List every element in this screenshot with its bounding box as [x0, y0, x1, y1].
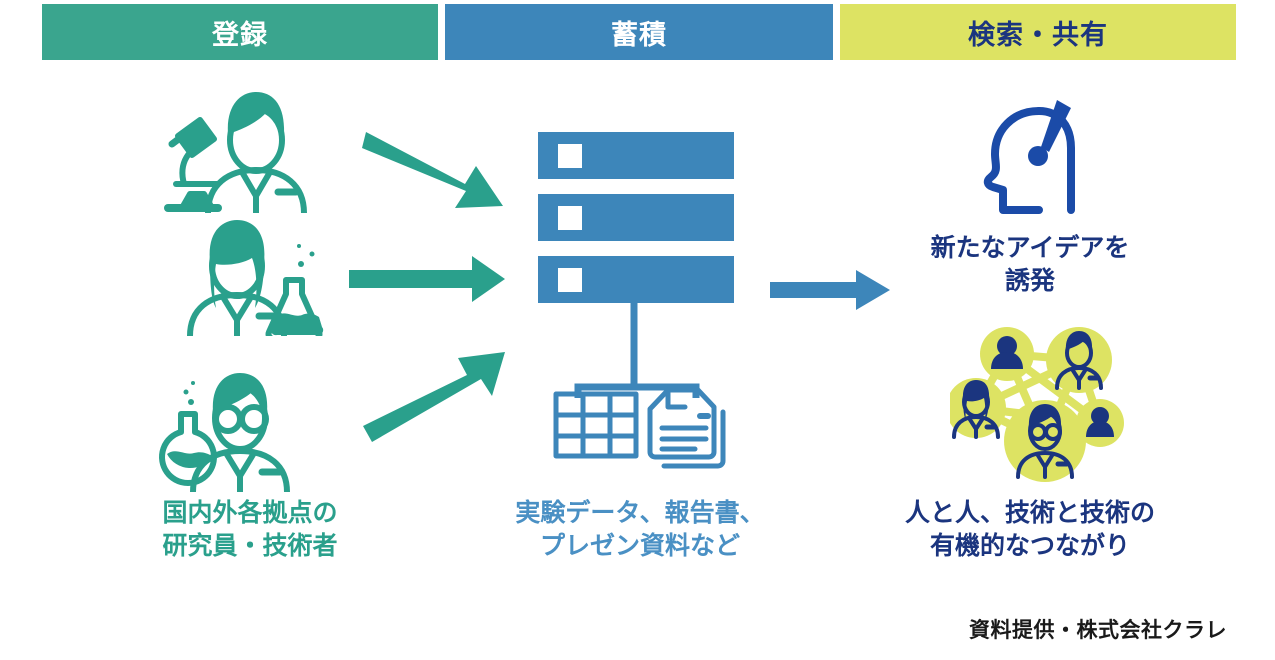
researcher-glasses-flask-icon: [155, 372, 340, 492]
arrow-register-to-store-top: [362, 132, 503, 208]
arrow-store-to-search: [768, 268, 893, 312]
header-bar-register: 登録: [42, 4, 438, 60]
header-label-store: 蓄積: [611, 13, 667, 52]
arrow-register-to-store-bottom: [363, 352, 505, 442]
caption-register: 国内外各拠点の 研究員・技術者: [100, 497, 400, 563]
people-network-icon: [950, 322, 1135, 482]
researcher-female-flask-icon: [160, 218, 340, 336]
header-label-register: 登録: [212, 13, 268, 52]
header-label-search: 検索・共有: [968, 13, 1108, 52]
infographic-canvas: 登録 蓄積 検索・共有: [0, 0, 1275, 660]
server-stack-icon: [536, 130, 746, 305]
server-connector-bracket: [556, 303, 726, 398]
caption-store: 実験データ、報告書、 プレゼン資料など: [485, 497, 795, 563]
header-bar-search: 検索・共有: [840, 4, 1236, 60]
researcher-microscope-icon: [150, 88, 345, 213]
caption-network: 人と人、技術と技術の 有機的なつながり: [880, 497, 1180, 563]
arrow-register-to-store-middle: [349, 256, 505, 302]
caption-idea: 新たなアイデアを 誘発: [880, 232, 1180, 298]
header-bar-store: 蓄積: [445, 4, 833, 60]
arrow-group-register-to-store: [345, 120, 535, 460]
spreadsheet-table-icon: [552, 390, 642, 462]
source-credit: 資料提供・株式会社クラレ: [969, 614, 1227, 644]
document-pages-icon: [640, 386, 730, 476]
head-exclamation-idea-icon: [975, 92, 1100, 217]
